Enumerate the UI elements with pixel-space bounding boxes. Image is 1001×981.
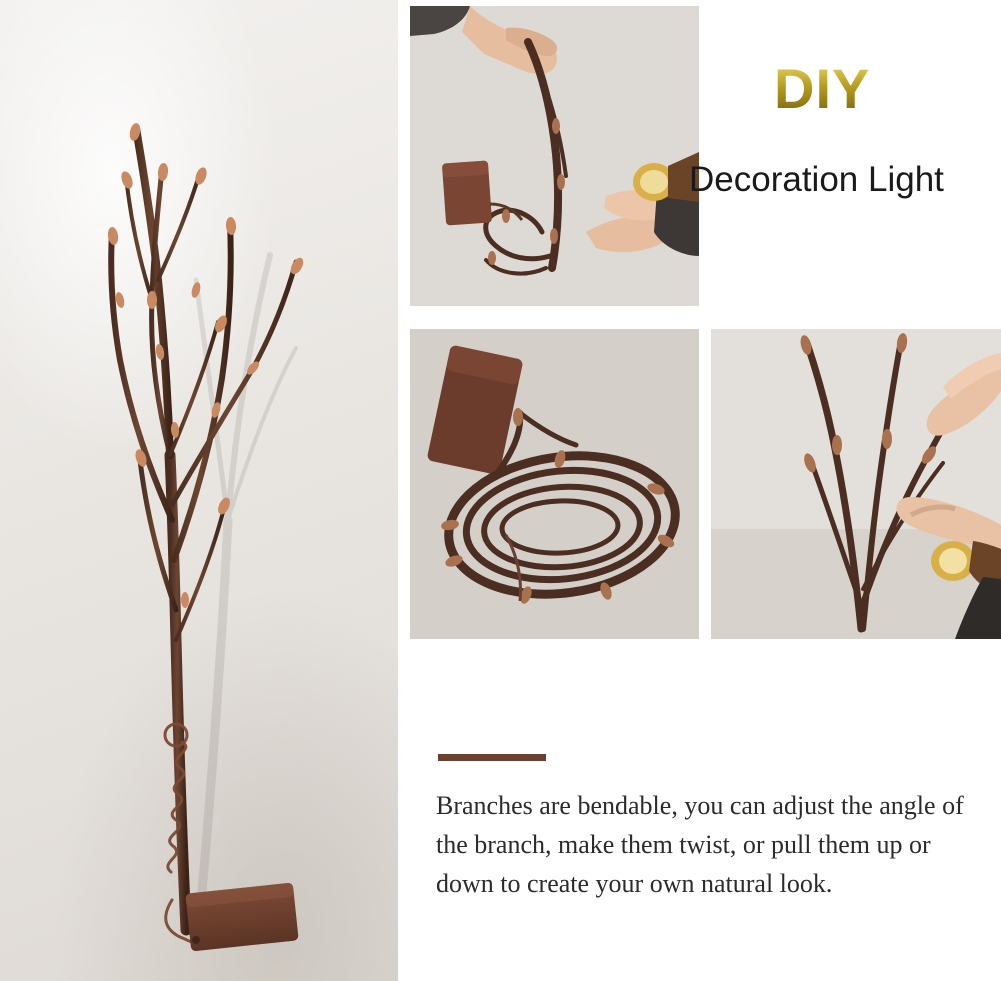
title-decoration-light: Decoration Light xyxy=(689,160,944,200)
uncoil-illustration xyxy=(410,6,699,306)
hero-branch-illustration xyxy=(0,0,398,981)
battery-box xyxy=(185,883,298,952)
hero-photo xyxy=(0,0,398,981)
shaping-illustration xyxy=(711,329,1001,639)
caption-rule xyxy=(438,754,546,761)
product-infographic: DIY Decoration Light Branches are bendab… xyxy=(0,0,1001,981)
right-column: DIY Decoration Light Branches are bendab… xyxy=(398,0,1001,981)
coiled-illustration xyxy=(410,329,699,639)
step-photo-shaping xyxy=(711,329,1001,639)
title-diy: DIY xyxy=(774,56,870,121)
step-photo-coiled xyxy=(410,329,699,639)
caption-text: Branches are bendable, you can adjust th… xyxy=(436,786,984,903)
step-photo-uncoil xyxy=(410,6,699,306)
